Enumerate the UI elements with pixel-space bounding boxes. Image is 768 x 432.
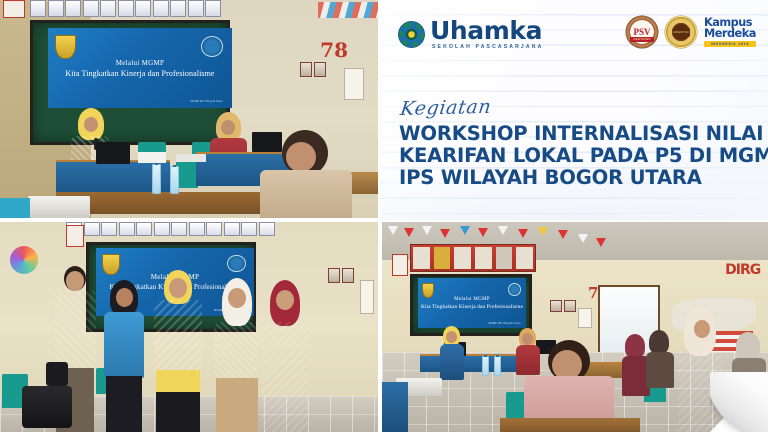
photo-bottom-right: DIRG Melalui MGMP Kita Tingkatkan Kinerj… <box>382 222 768 432</box>
water-bottle <box>152 164 161 194</box>
photo-bottom-left: Melalui MGMP Kita Tingkatkan Kinerja dan… <box>0 222 378 432</box>
banner-crest-icon <box>102 254 119 274</box>
batik-top <box>214 322 260 380</box>
uhamka-logo: Uhamka SEKOLAH PASCASARJANA <box>398 18 543 50</box>
group-person-3 <box>154 270 202 432</box>
bunting-flags <box>318 2 378 18</box>
uhamka-subtitle: SEKOLAH PASCASARJANA <box>432 45 543 50</box>
banner-line-2: Kita Tingkatkan Kinerja dan Profesionali… <box>421 304 523 310</box>
wall-notice <box>578 308 592 328</box>
info-panel: Uhamka SEKOLAH PASCASARJANA PSV CERTIFIE… <box>380 0 768 220</box>
hijab <box>649 330 669 354</box>
banner-line-2: Kita Tingkatkan Kinerja dan Profesionali… <box>65 69 214 78</box>
chair <box>176 160 198 188</box>
group-person-2 <box>104 280 144 432</box>
yellow-sash <box>156 370 200 394</box>
face <box>228 288 246 308</box>
face <box>66 271 84 291</box>
wall-frame-small <box>66 225 84 247</box>
outfit <box>732 358 766 402</box>
water-bottle <box>482 356 489 376</box>
title-line-3: IPS WILAYAH BOGOR UTARA <box>399 167 755 189</box>
title-line-1: WORKSHOP INTERNALISASI NILAI <box>399 123 755 145</box>
wall-frame-small <box>392 254 408 276</box>
skirt <box>216 378 258 432</box>
wall-frame-small <box>3 0 25 18</box>
face <box>276 290 294 310</box>
water-bottle <box>494 356 501 376</box>
wall-picture-frames <box>550 300 576 312</box>
outfit <box>440 344 464 380</box>
batik-outfit <box>154 300 202 374</box>
face <box>116 288 133 307</box>
table-cover-teal <box>0 198 30 218</box>
shirt <box>260 170 352 218</box>
banner-line-1: Melalui MGMP <box>116 59 165 67</box>
page-title: WORKSHOP INTERNALISASI NILAI KEARIFAN LO… <box>399 123 755 190</box>
papers <box>176 154 206 162</box>
attendee-foreground <box>260 130 352 218</box>
bag-small <box>46 362 68 386</box>
wall-picture-frames <box>300 62 326 78</box>
face <box>446 331 457 343</box>
projector <box>28 196 90 218</box>
bag <box>22 386 72 428</box>
kampus-merdeka-line-2: Merdeka <box>704 28 756 39</box>
papers <box>138 152 166 163</box>
front-desk <box>500 418 640 432</box>
face <box>221 120 235 135</box>
wall-decoration-wheel <box>10 246 38 274</box>
event-banner: Melalui MGMP Kita Tingkatkan Kinerja dan… <box>48 28 232 108</box>
attendee-standing <box>678 306 722 432</box>
psv-seal-icon: PSV CERTIFIED <box>626 16 658 48</box>
attendee-2 <box>646 330 674 388</box>
attendee-3 <box>732 332 766 402</box>
psv-seal-label: PSV <box>633 28 650 37</box>
skirt <box>106 376 142 432</box>
event-banner: Melalui MGMP Kita Tingkatkan Kinerja dan… <box>418 278 526 328</box>
face <box>169 278 187 298</box>
water-bottle <box>170 166 179 194</box>
outfit <box>646 352 674 388</box>
face <box>286 142 316 172</box>
wall-number-78: 78 <box>320 38 348 62</box>
hijab <box>625 334 645 358</box>
laptop <box>96 142 130 164</box>
wall-notice <box>344 68 364 100</box>
kampus-merdeka-icon: Kampus Merdeka INDONESIA JAYA <box>704 17 756 46</box>
logo-row: Uhamka SEKOLAH PASCASARJANA PSV CERTIFIE… <box>380 16 768 58</box>
blue-blouse <box>104 312 144 378</box>
banner-org-logo-icon <box>201 36 223 57</box>
wall-poster-strip <box>30 0 230 17</box>
banner-crest-icon <box>422 283 434 298</box>
banner-footer: MGMP IPS Wilayah Utara <box>488 322 520 325</box>
banner-crest-icon <box>55 35 75 59</box>
gold-seal-icon: AKREDITASI <box>665 16 697 48</box>
wall-poster-strip <box>66 222 276 236</box>
uhamka-wordmark: Uhamka SEKOLAH PASCASARJANA <box>430 18 543 50</box>
batik-dress <box>678 352 722 432</box>
photo-top-left: Melalui MGMP Kita Tingkatkan Kinerja dan… <box>0 0 378 218</box>
title-block: Kegiatan WORKSHOP INTERNALISASI NILAI KE… <box>399 98 755 190</box>
uhamka-name: Uhamka <box>430 18 543 43</box>
uhamka-crest-icon <box>398 21 425 48</box>
gold-seal-core: AKREDITASI <box>673 28 690 37</box>
psv-seal-ribbon: CERTIFIED <box>630 37 654 42</box>
badge-row: PSV CERTIFIED AKREDITASI Kampus Merdeka … <box>626 16 756 48</box>
eyebrow-kegiatan: Kegiatan <box>399 89 759 120</box>
group-person-5 <box>262 280 308 432</box>
banner-org-logo-icon <box>508 283 521 296</box>
table-cover-batik <box>382 382 408 432</box>
kampus-merdeka-bar: INDONESIA JAYA <box>704 41 756 47</box>
banner-footer: MGMP IPS Wilayah Utara <box>190 100 222 103</box>
hijab <box>736 332 760 360</box>
banner-line-1: Melalui MGMP <box>454 297 490 302</box>
group-person-4 <box>214 278 260 432</box>
batik-dress <box>262 322 308 432</box>
banner-org-logo-icon <box>227 255 246 273</box>
wall-picture-frames <box>328 268 354 284</box>
wall-text-dirgahayu: DIRG <box>725 262 760 278</box>
poster-canvas: Melalui MGMP Kita Tingkatkan Kinerja dan… <box>0 0 768 432</box>
wall-notice <box>360 280 374 314</box>
skirt <box>156 392 200 432</box>
batik-shirt <box>54 290 96 372</box>
face <box>84 117 98 132</box>
national-portraits <box>410 244 536 272</box>
presenter-left <box>440 326 464 380</box>
face <box>694 320 710 338</box>
title-line-2: KEARIFAN LOKAL PADA P5 DI MGMP <box>399 145 755 167</box>
bunting-flags <box>382 226 768 246</box>
